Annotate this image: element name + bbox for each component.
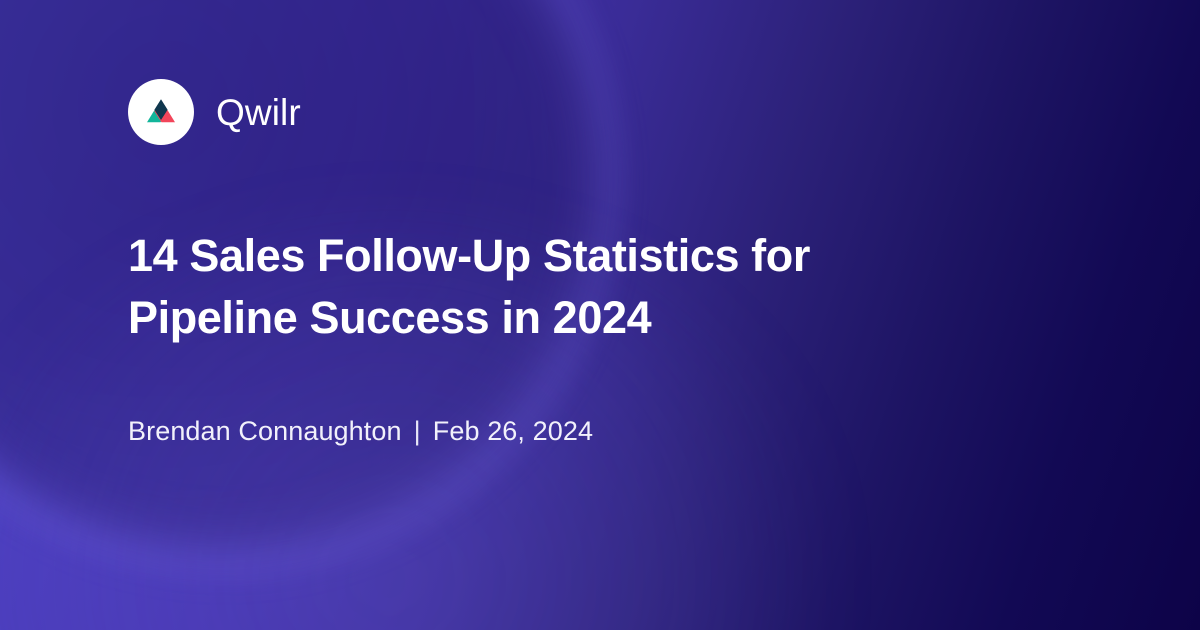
page-title: 14 Sales Follow-Up Statistics for Pipeli…: [128, 225, 988, 349]
card-content: Qwilr 14 Sales Follow-Up Statistics for …: [0, 0, 1200, 630]
og-card: Qwilr 14 Sales Follow-Up Statistics for …: [0, 0, 1200, 630]
publish-date: Feb 26, 2024: [433, 415, 593, 447]
page-title-line-1: 14 Sales Follow-Up Statistics for: [128, 225, 988, 287]
page-title-line-2: Pipeline Success in 2024: [128, 287, 988, 349]
brand-lockup[interactable]: Qwilr: [128, 79, 301, 145]
byline-separator: |: [402, 415, 433, 447]
byline: Brendan Connaughton | Feb 26, 2024: [128, 415, 593, 447]
author-name: Brendan Connaughton: [128, 415, 402, 447]
qwilr-chevron-logo-icon: [128, 79, 194, 145]
brand-name: Qwilr: [216, 94, 301, 131]
